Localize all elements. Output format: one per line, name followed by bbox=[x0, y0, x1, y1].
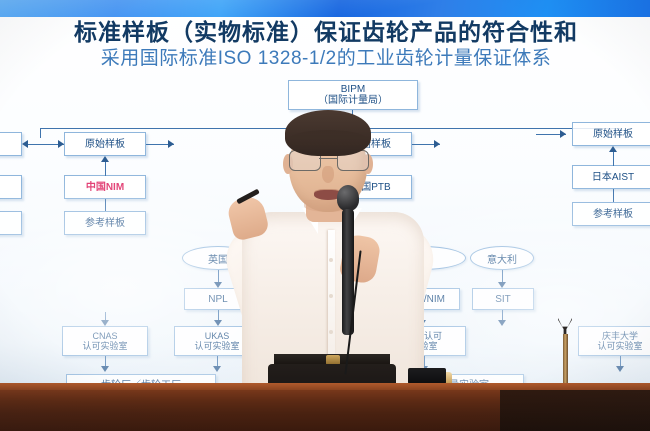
presenter-hair bbox=[285, 110, 371, 156]
diagram-node-jp-original: 原始样板 bbox=[572, 122, 650, 146]
arrow-left-edge-in bbox=[22, 140, 28, 148]
connector-cn-ref-up bbox=[105, 199, 106, 211]
diagram-node-qingfeng: 庆丰大学 认可实验室 bbox=[578, 326, 650, 356]
diagram-node-jp-aist: 日本AIST bbox=[572, 165, 650, 189]
arrow-sit-down bbox=[498, 320, 506, 326]
shirt-button bbox=[329, 330, 333, 334]
diagram-node-left-edge-top bbox=[0, 132, 22, 156]
arrow-cn-nmi-up bbox=[101, 156, 109, 162]
desk-shadow-panel bbox=[500, 390, 650, 431]
slide-subtitle: 采用国际标准ISO 1328-1/2的工业齿轮计量保证体系 bbox=[0, 47, 650, 71]
arrow-cnas-bottom bbox=[101, 366, 109, 372]
glasses-bridge bbox=[319, 158, 337, 159]
arrow-jp-aist-up bbox=[609, 146, 617, 152]
arrow-qf-bottom bbox=[616, 366, 624, 372]
diagram-node-jp-reference: 参考样板 bbox=[572, 202, 650, 226]
connector-jp-ref-up bbox=[613, 189, 614, 202]
laptop-device bbox=[408, 368, 446, 384]
diagram-ellipse-it: 意大利 bbox=[470, 246, 534, 270]
shirt-button bbox=[329, 294, 333, 298]
diagram-node-sit: SIT bbox=[472, 288, 534, 310]
arrow-cn-right bbox=[168, 140, 174, 148]
slide-banner bbox=[0, 0, 650, 17]
diagram-node-left-edge-mid bbox=[0, 175, 22, 199]
diagram-node-cn-reference: 参考样板 bbox=[64, 211, 146, 235]
arrow-ukas-bottom bbox=[213, 366, 221, 372]
mic-stand-rod bbox=[563, 334, 568, 386]
connector-bus-left-drop bbox=[40, 128, 41, 138]
arrow-de-right bbox=[434, 140, 440, 148]
microphone-head-icon bbox=[337, 185, 359, 211]
diagram-node-cn-nmi: 中国NIM bbox=[64, 175, 146, 199]
arrow-jp-left-in bbox=[560, 130, 566, 138]
shirt-button bbox=[329, 258, 333, 262]
diagram-node-bipm: BIPM （国际计量局） bbox=[288, 80, 418, 110]
presenter-nose bbox=[322, 166, 334, 183]
presenter-figure bbox=[238, 108, 428, 398]
mic-stand bbox=[558, 318, 572, 384]
desk-front-edge bbox=[0, 383, 650, 390]
connector-cn-nmi-up bbox=[105, 162, 106, 176]
diagram-node-cn-original: 原始样板 bbox=[64, 132, 146, 156]
diagram-node-left-edge-bot bbox=[0, 211, 22, 235]
slide-title: 标准样板（实物标准）保证齿轮产品的符合性和 bbox=[0, 18, 650, 46]
diagram-node-cnas: CNAS 认可实验室 bbox=[62, 326, 148, 356]
screenshot-stage: 标准样板（实物标准）保证齿轮产品的符合性和 采用国际标准ISO 1328-1/2… bbox=[0, 0, 650, 431]
connector-jp-aist-up bbox=[613, 152, 614, 166]
